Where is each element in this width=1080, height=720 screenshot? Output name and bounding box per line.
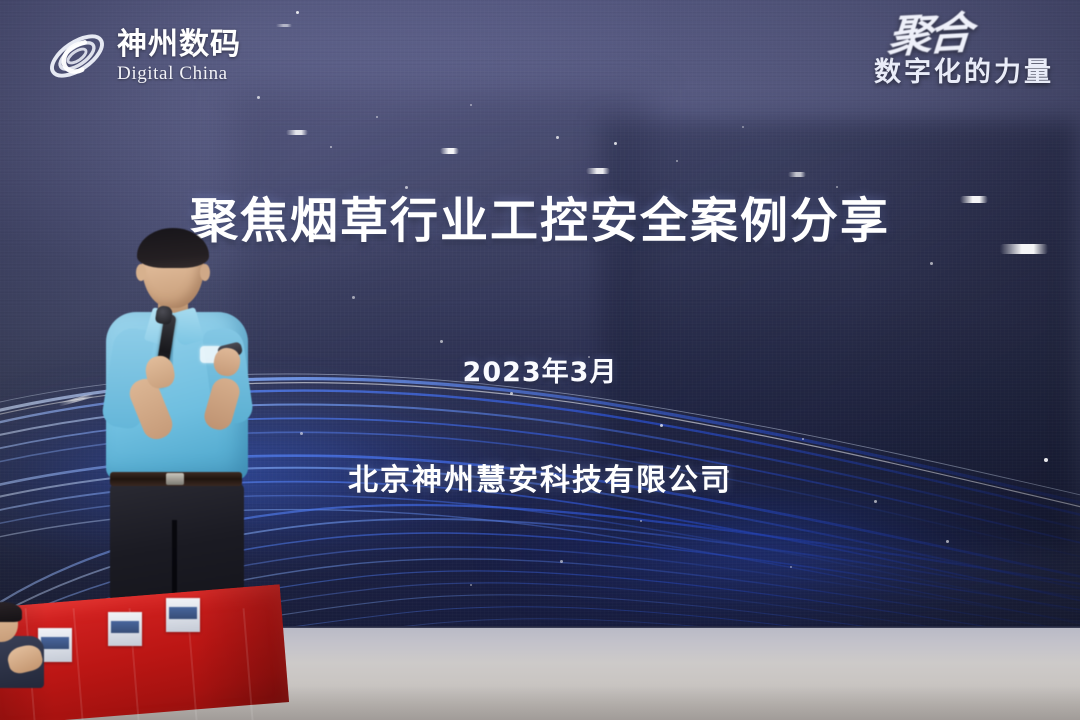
name-card-text-strip [111, 621, 139, 633]
speaker-figure [96, 228, 266, 628]
event-logo-calligraphy: 聚合 [886, 14, 969, 59]
name-card [166, 598, 200, 632]
name-card-text-strip [169, 607, 197, 619]
speaker-belt-buckle [166, 473, 184, 485]
logo-chinese-name: 神州数码 [117, 30, 241, 60]
microphone-head [155, 305, 174, 325]
conference-photo: 神州数码 Digital China 聚合 数字化的力量 聚焦烟草行业工控安全案… [0, 0, 1080, 720]
logo-english-name: Digital China [117, 64, 241, 83]
seated-audience-member [0, 606, 48, 684]
digital-china-logo: 神州数码 Digital China [44, 22, 274, 90]
event-logo: 聚合 数字化的力量 [792, 16, 1054, 120]
speaker-hair [137, 228, 209, 268]
speaker-ear-left [136, 264, 146, 281]
name-card [108, 612, 142, 646]
foreground-table [0, 570, 290, 720]
digital-china-swirl-icon [44, 28, 110, 84]
speaker-ear-right [200, 264, 210, 281]
